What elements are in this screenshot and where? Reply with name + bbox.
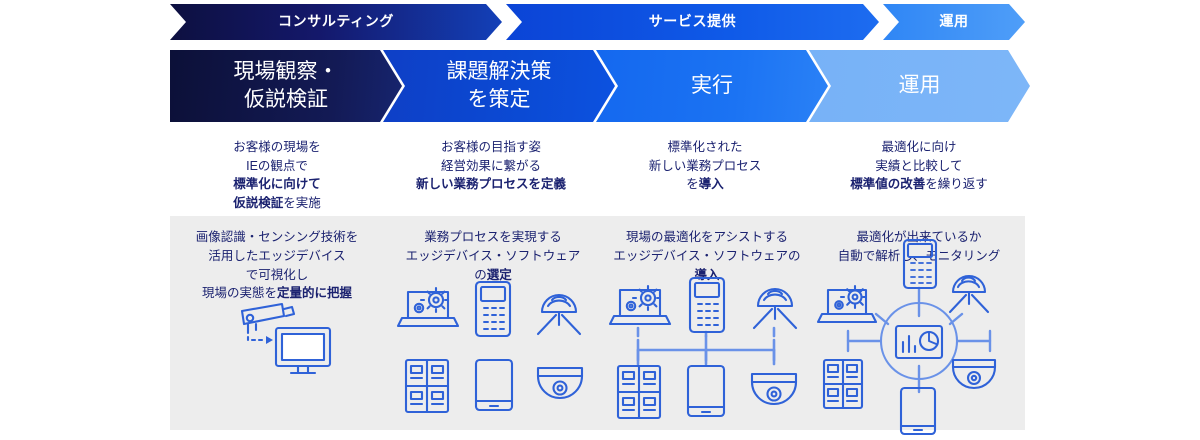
phase-chevron-1: 現場観察・ 仮説検証 bbox=[170, 50, 402, 122]
bus-line bbox=[638, 328, 774, 364]
panel-description-3: 現場の最適化をアシストするエッジデバイス・ソフトウェアの導入 bbox=[600, 228, 814, 284]
phase-group-banner: コンサルティング サービス提供 運用 bbox=[170, 4, 1025, 40]
text-line: 業務プロセスを実現する bbox=[386, 228, 600, 247]
handheld-terminal-icon bbox=[476, 282, 510, 336]
artwork-device-grid bbox=[386, 278, 600, 426]
server-rack-icon bbox=[824, 360, 862, 408]
laptop-gears-icon bbox=[398, 288, 458, 326]
text-line: 標準化された bbox=[598, 138, 812, 157]
artwork-camera-to-monitor bbox=[170, 278, 384, 426]
text-line: 実績と比較して bbox=[812, 157, 1026, 176]
laptop-gears-icon bbox=[818, 286, 876, 322]
phase-label: 課題解決策 を策定 bbox=[447, 58, 552, 113]
ceiling-sensor-icon bbox=[538, 295, 580, 334]
banner-segment-operation: 運用 bbox=[883, 4, 1025, 40]
phase-description-2: お客様の目指す姿経営効果に繋がる新しい業務プロセスを定義 bbox=[384, 138, 598, 194]
text-line: お客様の目指す姿 bbox=[384, 138, 598, 157]
phase-chevron-3: 実行 bbox=[596, 50, 828, 122]
banner-segment-service-delivery: サービス提供 bbox=[506, 4, 879, 40]
handheld-terminal-icon bbox=[690, 278, 724, 332]
text-line: お客様の現場を bbox=[170, 138, 384, 157]
banner-segment-label: コンサルティング bbox=[278, 11, 394, 31]
phase-label: 現場観察・ 仮説検証 bbox=[234, 58, 339, 113]
text-line: 新しい業務プロセス bbox=[598, 157, 812, 176]
phase-chevron-2: 課題解決策 を策定 bbox=[383, 50, 615, 122]
phase-description-4: 最適化に向け実績と比較して標準値の改善を繰り返す bbox=[812, 138, 1026, 194]
laptop-gears-icon bbox=[610, 286, 670, 324]
technology-panel: 画像認識・センシング技術を活用したエッジデバイスで可視化し現場の実態を定量的に把… bbox=[170, 216, 1025, 430]
banner-segment-consulting: コンサルティング bbox=[170, 4, 502, 40]
tablet-icon bbox=[688, 366, 724, 416]
phase-description-row: お客様の現場をIEの観点で標準化に向けて仮説検証を実施 お客様の目指す姿経営効果… bbox=[170, 138, 1026, 204]
text-line: 経営効果に繋がる bbox=[384, 157, 598, 176]
dome-camera-icon bbox=[953, 360, 995, 388]
text-line: 画像認識・センシング技術を bbox=[170, 228, 384, 247]
server-rack-icon bbox=[406, 360, 448, 412]
phase-description-1: お客様の現場をIEの観点で標準化に向けて仮説検証を実施 bbox=[170, 138, 384, 212]
security-camera-icon bbox=[242, 304, 294, 330]
text-line: を導入 bbox=[598, 175, 812, 194]
text-line: 標準値の改善を繰り返す bbox=[812, 175, 1026, 194]
banner-segment-label: 運用 bbox=[939, 11, 968, 31]
ceiling-sensor-icon bbox=[754, 289, 796, 328]
monitor-icon bbox=[276, 328, 330, 373]
phase-chevron-row: 現場観察・ 仮説検証 課題解決策 を策定 実行 運用 bbox=[170, 50, 1030, 122]
text-line: 活用したエッジデバイス bbox=[170, 247, 384, 266]
tablet-icon bbox=[901, 388, 935, 434]
text-line: 最適化に向け bbox=[812, 138, 1026, 157]
text-line: エッジデバイス・ソフトウェア bbox=[386, 247, 600, 266]
tablet-icon bbox=[476, 360, 512, 410]
text-line: 仮説検証を実施 bbox=[170, 194, 384, 213]
dome-camera-icon bbox=[752, 374, 796, 404]
dome-camera-icon bbox=[538, 368, 582, 398]
ceiling-sensor-icon bbox=[950, 276, 988, 312]
text-line: IEの観点で bbox=[170, 157, 384, 176]
phase-label: 実行 bbox=[691, 72, 733, 100]
text-line: 新しい業務プロセスを定義 bbox=[384, 175, 598, 194]
process-flow-diagram: コンサルティング サービス提供 運用 現場観察・ 仮説検証 課題解決策 を策定 … bbox=[0, 0, 1200, 440]
text-line: 現場の最適化をアシストする bbox=[600, 228, 814, 247]
text-line: 標準化に向けて bbox=[170, 175, 384, 194]
banner-segment-label: サービス提供 bbox=[649, 11, 737, 31]
connector-dashes bbox=[248, 330, 266, 340]
phase-description-3: 標準化された新しい業務プロセスを導入 bbox=[598, 138, 812, 194]
panel-description-2: 業務プロセスを実現するエッジデバイス・ソフトウェアの選定 bbox=[386, 228, 600, 284]
text-line: エッジデバイス・ソフトウェアの bbox=[600, 247, 814, 266]
artwork-analytics-hub-network bbox=[812, 278, 1026, 426]
phase-label: 運用 bbox=[899, 72, 941, 100]
artwork-device-bus-network bbox=[600, 278, 814, 426]
phase-chevron-4: 運用 bbox=[809, 50, 1030, 122]
server-rack-icon bbox=[618, 366, 660, 418]
